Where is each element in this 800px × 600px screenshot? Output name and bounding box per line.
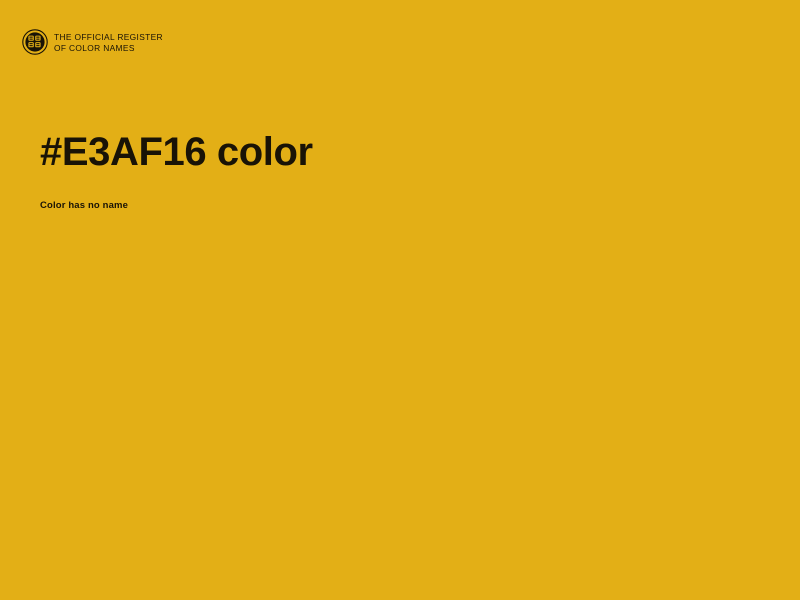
register-seal-icon: [22, 29, 48, 55]
brand-wordmark-line-2: OF COLOR NAMES: [54, 43, 163, 54]
color-name-status: Color has no name: [40, 199, 128, 212]
color-page: THE OFFICIAL REGISTER OF COLOR NAMES #E3…: [0, 0, 800, 600]
brand-lockup[interactable]: THE OFFICIAL REGISTER OF COLOR NAMES: [22, 29, 163, 55]
brand-wordmark: THE OFFICIAL REGISTER OF COLOR NAMES: [54, 31, 163, 53]
page-title: #E3AF16 color: [40, 128, 313, 176]
brand-wordmark-line-1: THE OFFICIAL REGISTER: [54, 32, 163, 43]
